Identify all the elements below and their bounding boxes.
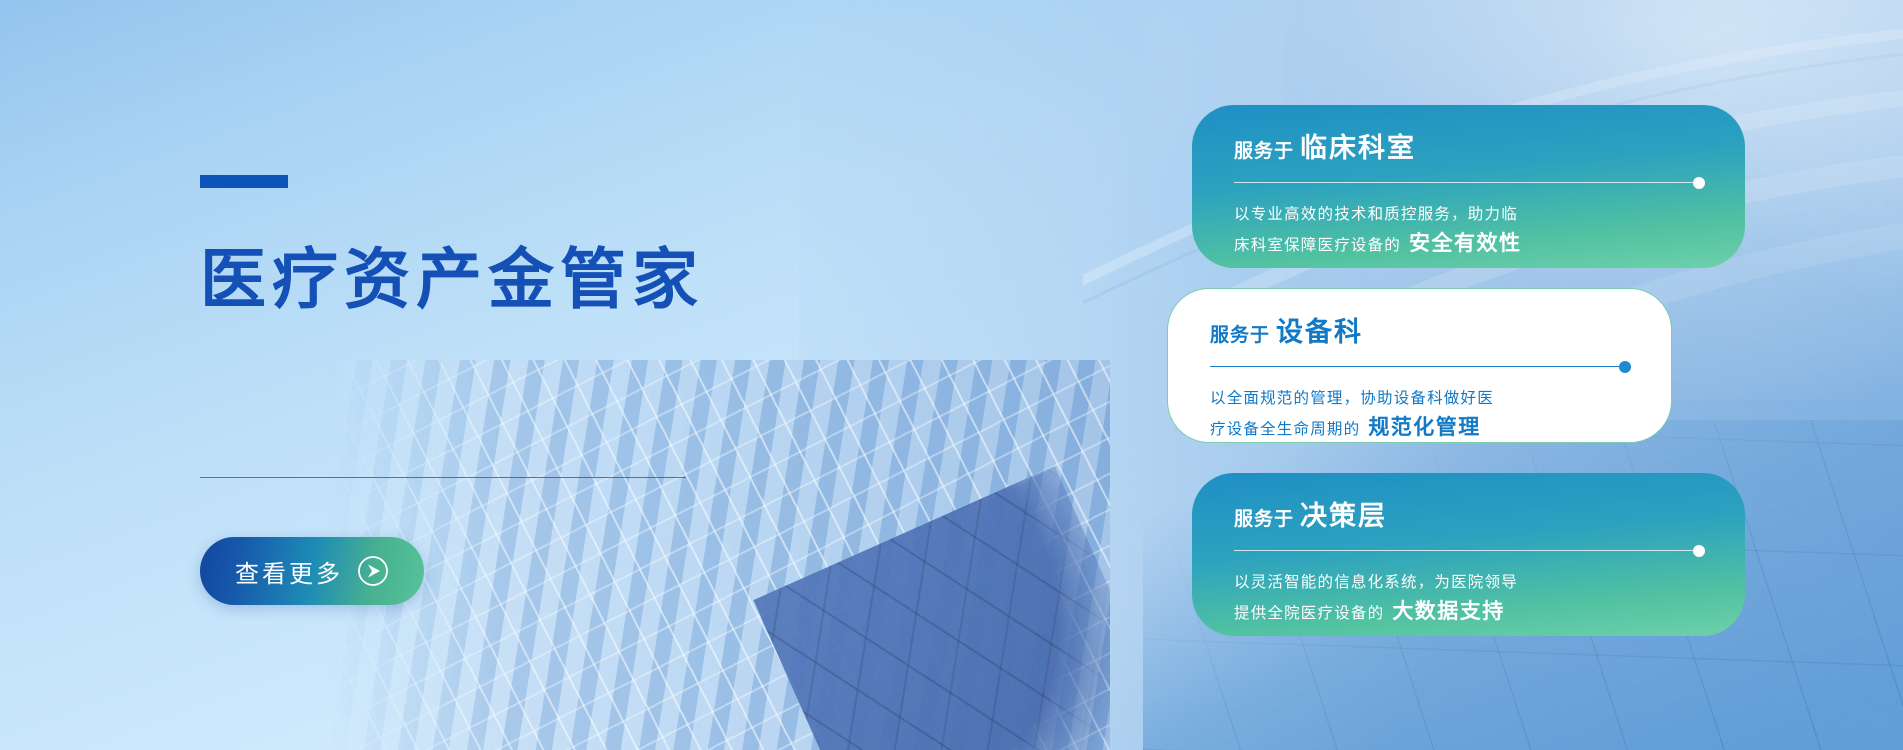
- card-title-subject: 临床科室: [1300, 135, 1416, 162]
- card-desc-line-1: 以全面规范的管理，协助设备科做好医: [1210, 387, 1631, 411]
- card-desc-line-2-text: 提供全院医疗设备的: [1234, 605, 1384, 622]
- card-description: 以专业高效的技术和质控服务，助力临 床科室保障医疗设备的安全有效性: [1234, 203, 1705, 261]
- accent-dash-decoration: [200, 175, 288, 188]
- horizontal-divider: [200, 477, 686, 478]
- card-title: 服务于 临床科室: [1234, 135, 1705, 162]
- card-title: 服务于 设备科: [1210, 319, 1631, 346]
- card-desc-line-2-text: 床科室保障医疗设备的: [1234, 237, 1401, 254]
- card-title: 服务于 决策层: [1234, 503, 1705, 530]
- card-description: 以全面规范的管理，协助设备科做好医 疗设备全生命周期的规范化管理: [1210, 387, 1631, 445]
- service-card-clinical-department[interactable]: 服务于 临床科室 以专业高效的技术和质控服务，助力临 床科室保障医疗设备的安全有…: [1192, 105, 1745, 268]
- card-title-prefix: 服务于: [1234, 142, 1294, 161]
- card-desc-highlight: 安全有效性: [1409, 232, 1522, 255]
- arrow-right-circle-icon: [357, 555, 389, 587]
- card-desc-highlight: 规范化管理: [1368, 416, 1481, 439]
- card-desc-line-2: 疗设备全生命周期的规范化管理: [1210, 411, 1631, 444]
- card-desc-line-2: 床科室保障医疗设备的安全有效性: [1234, 227, 1705, 260]
- card-desc-line-1: 以专业高效的技术和质控服务，助力临: [1234, 203, 1705, 227]
- card-title-prefix: 服务于: [1210, 326, 1270, 345]
- card-rule-line: [1210, 366, 1619, 367]
- card-rule: [1234, 177, 1705, 189]
- card-desc-line-2: 提供全院医疗设备的大数据支持: [1234, 595, 1705, 628]
- card-desc-line-1: 以灵活智能的信息化系统，为医院领导: [1234, 571, 1705, 595]
- card-rule: [1234, 545, 1705, 557]
- service-card-decision-layer[interactable]: 服务于 决策层 以灵活智能的信息化系统，为医院领导 提供全院医疗设备的大数据支持: [1192, 473, 1745, 636]
- card-rule-dot-icon: [1693, 177, 1705, 189]
- card-title-subject: 设备科: [1276, 319, 1363, 346]
- card-rule-line: [1234, 550, 1693, 551]
- card-rule: [1210, 361, 1631, 373]
- card-description: 以灵活智能的信息化系统，为医院领导 提供全院医疗设备的大数据支持: [1234, 571, 1705, 629]
- view-more-label: 查看更多: [235, 554, 343, 589]
- page-title: 医疗资产金管家: [200, 246, 704, 312]
- view-more-button[interactable]: 查看更多: [200, 537, 424, 605]
- card-desc-line-2-text: 疗设备全生命周期的: [1210, 421, 1360, 438]
- hero-left-content: 医疗资产金管家 查看更多: [200, 0, 820, 750]
- card-desc-highlight: 大数据支持: [1392, 600, 1505, 623]
- card-rule-dot-icon: [1619, 361, 1631, 373]
- card-title-prefix: 服务于: [1234, 510, 1294, 529]
- card-title-subject: 决策层: [1300, 503, 1387, 530]
- service-card-equipment-department[interactable]: 服务于 设备科 以全面规范的管理，协助设备科做好医 疗设备全生命周期的规范化管理: [1167, 288, 1672, 443]
- service-card-list: 服务于 临床科室 以专业高效的技术和质控服务，助力临 床科室保障医疗设备的安全有…: [1143, 0, 1903, 750]
- card-rule-dot-icon: [1693, 545, 1705, 557]
- hero-banner: 医疗资产金管家 查看更多 服务于 临床科室 以专业高效的技术和质控服务，助力临: [0, 0, 1903, 750]
- card-rule-line: [1234, 182, 1693, 183]
